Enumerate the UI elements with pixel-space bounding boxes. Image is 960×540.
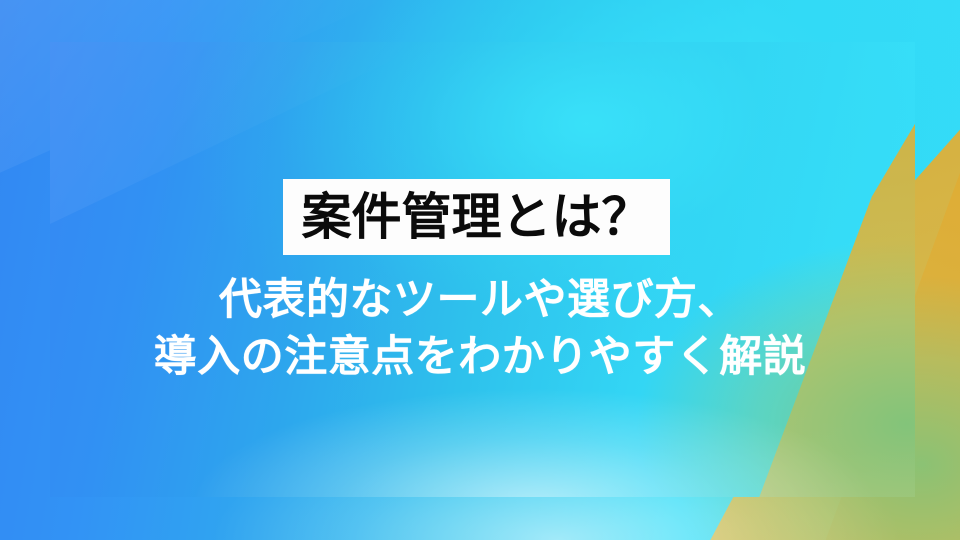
subtitle-line-2: 導入の注意点をわかりやすく解説 bbox=[0, 329, 960, 386]
title-highlight-box: 案件管理とは？ bbox=[283, 179, 670, 255]
subtitle: 代表的なツールや選び方、 導入の注意点をわかりやすく解説 bbox=[0, 272, 960, 386]
page-title: 案件管理とは？ bbox=[302, 192, 652, 242]
thumbnail-canvas: 案件管理とは？ 代表的なツールや選び方、 導入の注意点をわかりやすく解説 bbox=[0, 0, 960, 540]
content-layer: 案件管理とは？ 代表的なツールや選び方、 導入の注意点をわかりやすく解説 bbox=[0, 0, 960, 540]
subtitle-line-1: 代表的なツールや選び方、 bbox=[0, 272, 960, 329]
